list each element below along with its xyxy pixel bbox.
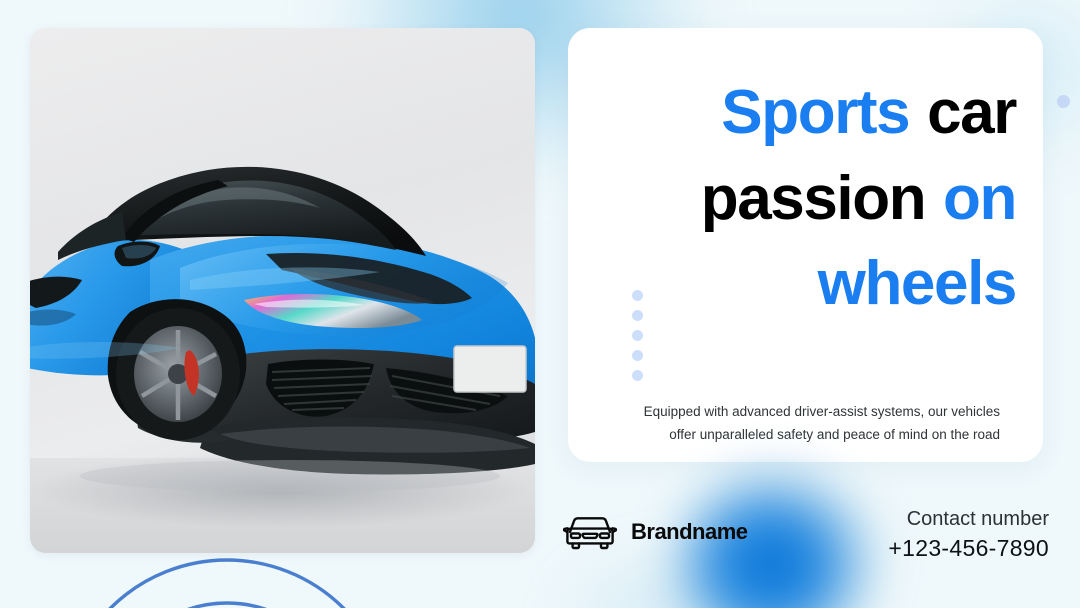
corner-dot-decoration [1057, 95, 1070, 108]
bullet-dot [632, 310, 643, 321]
contact-label: Contact number [888, 506, 1049, 533]
headline-word-passion: passion [701, 164, 926, 233]
headline-word-sports: Sports [721, 78, 909, 147]
brand-logo[interactable]: Brandname [563, 512, 748, 552]
car-front-icon [563, 512, 617, 552]
poster-canvas: Sports car passion on wheels Equipped wi… [0, 0, 1080, 608]
contact-number[interactable]: +123-456-7890 [888, 533, 1049, 564]
content-card: Sports car passion on wheels Equipped wi… [568, 28, 1043, 462]
body-description: Equipped with advanced driver-assist sys… [620, 400, 1000, 446]
headline-word-wheels: wheels [818, 249, 1016, 318]
page-title: Sports car passion on wheels [596, 70, 1016, 327]
contact-block: Contact number +123-456-7890 [888, 506, 1049, 564]
bullet-dot [632, 330, 643, 341]
bullet-dot [632, 290, 643, 301]
bullet-dot [632, 370, 643, 381]
concentric-arcs-decoration [57, 545, 397, 608]
brand-name-label: Brandname [631, 519, 748, 545]
headline-word-on: on [943, 164, 1016, 233]
bullet-dots-decoration [632, 290, 643, 381]
headline-word-car: car [927, 78, 1016, 147]
hero-car-photo [30, 28, 535, 553]
bullet-dot [632, 350, 643, 361]
